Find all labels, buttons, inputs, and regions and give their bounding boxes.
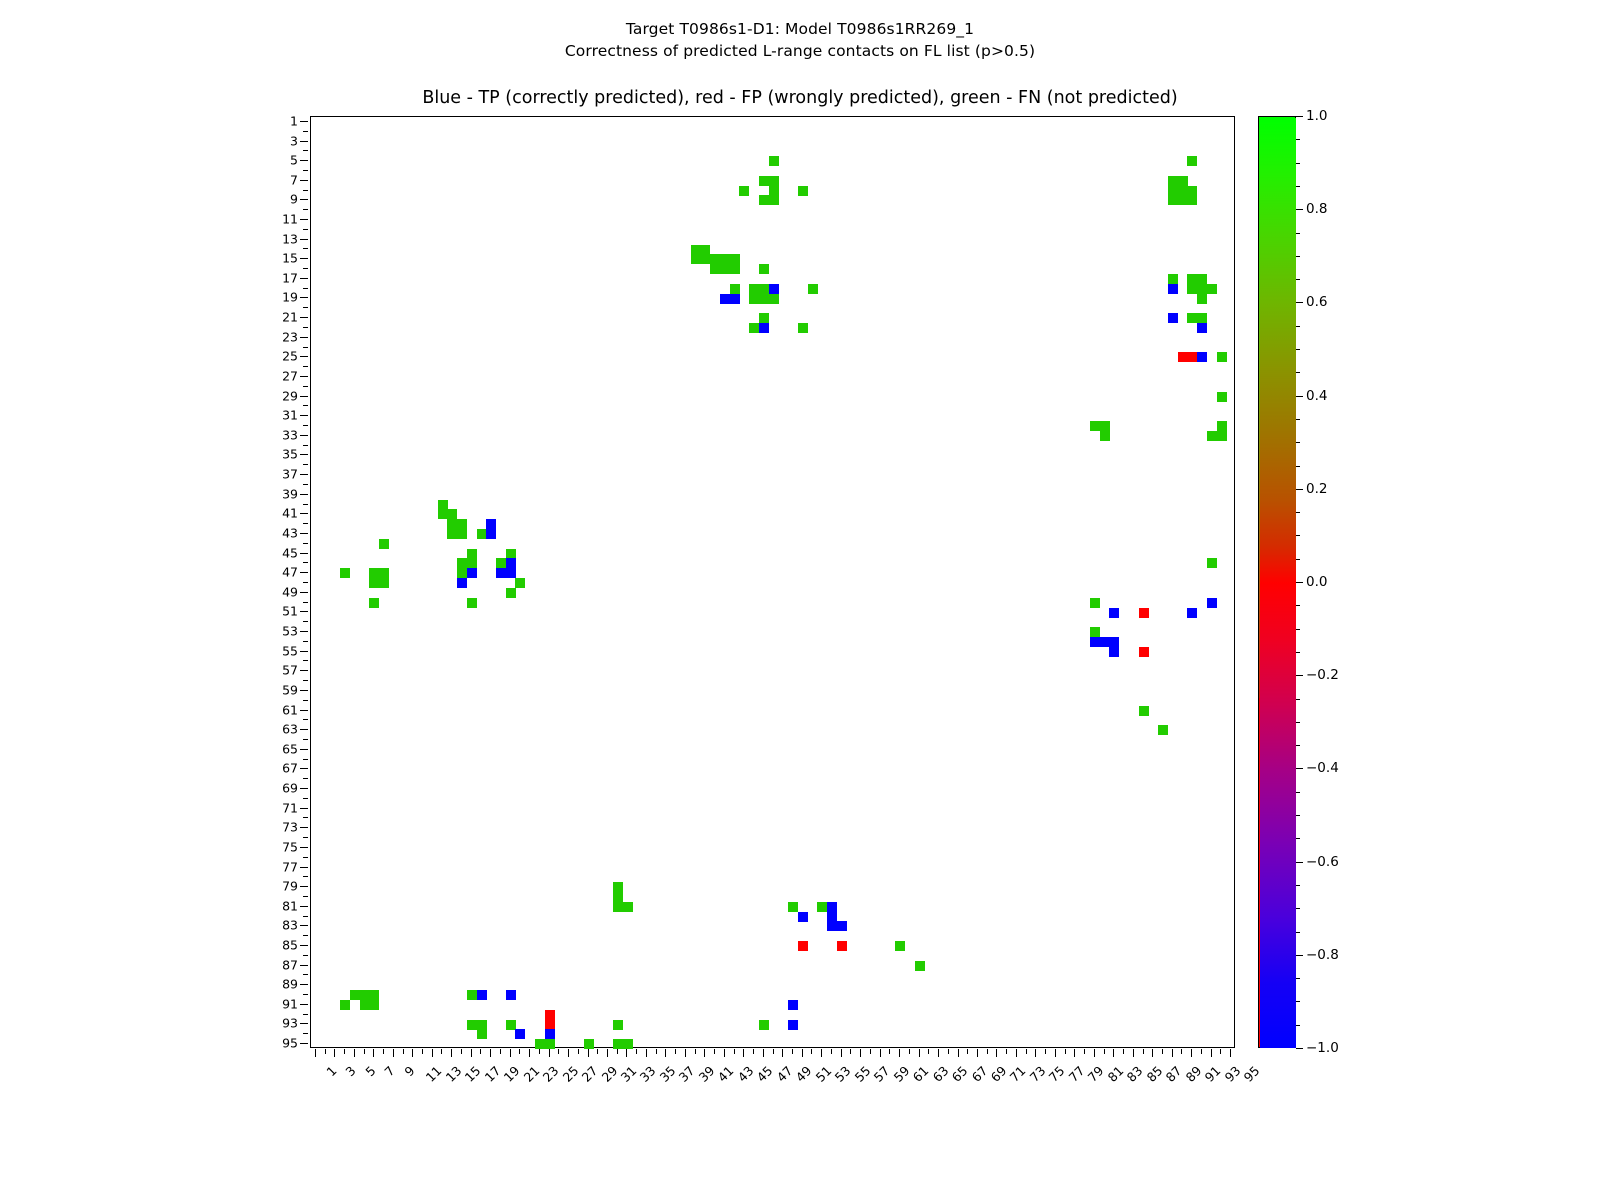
x-axis-tick [763,1049,764,1057]
x-axis-tick [977,1049,978,1057]
contact-cell [749,323,759,333]
contact-cell [1109,647,1119,657]
y-axis-tick-label: 85 [282,937,298,952]
contact-cell [486,519,496,529]
contact-cell [769,176,779,186]
x-axis-tick [782,1049,783,1057]
y-axis-tick-label: 63 [282,722,298,737]
contact-cell [457,529,467,539]
contact-cell [447,509,457,519]
colorbar-tick-label: 0.8 [1306,201,1327,217]
contact-cell [788,1020,798,1030]
contact-cell [486,529,496,539]
y-axis-tick [300,278,308,279]
y-axis-tick [300,651,308,652]
contact-cell [584,1039,594,1049]
x-axis-tick [870,1049,871,1054]
y-axis-tick-label: 21 [282,310,298,325]
contact-cell [730,264,740,274]
colorbar-minor-tick [1296,932,1300,933]
y-axis-tick-label: 49 [282,584,298,599]
colorbar-minor-tick [1296,442,1300,443]
x-axis-tick [1123,1049,1124,1054]
contact-cell [1109,637,1119,647]
colorbar-minor-tick [1296,326,1300,327]
contact-cell [769,156,779,166]
y-axis-tick [300,611,308,612]
y-axis-tick-label: 93 [282,1016,298,1031]
y-axis-tick-label: 23 [282,329,298,344]
y-axis-tick [303,248,308,249]
y-axis-tick [300,886,308,887]
y-axis-tick [303,837,308,838]
contact-cell [1100,431,1110,441]
y-axis-tick-label: 11 [282,212,298,227]
contact-cell [1207,284,1217,294]
y-axis-tick [300,631,308,632]
x-axis-tick [996,1049,997,1057]
y-axis-tick-label: 35 [282,447,298,462]
contact-cell [827,902,837,912]
contact-cell [720,254,730,264]
y-axis-tick [300,199,308,200]
x-axis-tick [958,1049,959,1057]
y-axis-tick-label: 29 [282,388,298,403]
y-axis-tick [303,641,308,642]
contact-cell [506,588,516,598]
contact-cell [506,558,516,568]
x-axis-tick [743,1049,744,1057]
contact-cell [700,254,710,264]
contact-map-cells [311,117,1234,1047]
y-axis-tick-label: 31 [282,408,298,423]
contact-cell [1187,156,1197,166]
y-axis-tick-label: 59 [282,682,298,697]
y-axis-tick [303,562,308,563]
colorbar-minor-tick [1296,372,1300,373]
x-axis-tick [860,1049,861,1057]
y-axis-tick-label: 33 [282,427,298,442]
y-axis-tick [300,356,308,357]
x-axis-tick [626,1049,627,1057]
y-axis-tick [303,1014,308,1015]
contact-cell [1197,294,1207,304]
contact-cell [1217,421,1227,431]
y-axis-tick-label: 57 [282,663,298,678]
x-axis-tick [364,1049,365,1054]
colorbar-minor-tick [1296,722,1300,723]
colorbar-minor-tick [1296,745,1300,746]
y-axis-tick-label: 79 [282,879,298,894]
colorbar-tick-label: −0.2 [1306,667,1339,683]
contact-cell [1100,637,1110,647]
x-axis-tick [1220,1049,1221,1054]
colorbar-minor-tick [1296,1001,1300,1002]
y-axis-tick [300,533,308,534]
y-axis-tick [303,778,308,779]
y-axis-tick-label: 87 [282,957,298,972]
contact-cell [623,1039,633,1049]
contact-cell [613,882,623,892]
contact-cell [769,186,779,196]
contact-cell [360,1000,370,1010]
contact-cell [1187,352,1197,362]
contact-cell [467,1020,477,1030]
y-axis-tick [303,994,308,995]
x-axis-tick [665,1049,666,1057]
x-axis-tick [1211,1049,1212,1057]
contact-cell [798,186,808,196]
contact-cell [515,1029,525,1039]
contact-cell [369,578,379,588]
x-axis-tick [1104,1049,1105,1054]
y-axis-tick-label: 83 [282,918,298,933]
contact-cell [369,990,379,1000]
y-axis-tick-label: 9 [290,192,298,207]
contact-cell [457,578,467,588]
contact-cell [1207,598,1217,608]
contact-cell [759,195,769,205]
x-axis-tick [403,1049,404,1054]
contact-cell [1187,313,1197,323]
contact-cell [613,892,623,902]
contact-cell [730,294,740,304]
contact-cell [467,990,477,1000]
x-axis-tick [880,1049,881,1057]
y-axis-tick [303,484,308,485]
contact-cell [837,941,847,951]
y-axis-tick [300,572,308,573]
contact-cell [1197,323,1207,333]
y-axis-tick [300,729,308,730]
x-axis-tick [1045,1049,1046,1054]
y-axis-tick-label: 77 [282,859,298,874]
y-axis-tick [300,121,308,122]
y-axis-tick [300,376,308,377]
colorbar-minor-tick [1296,279,1300,280]
contact-cell [1187,195,1197,205]
x-axis-tick [899,1049,900,1057]
y-axis-tick [300,337,308,338]
colorbar-minor-tick [1296,885,1300,886]
contact-cell [788,902,798,912]
colorbar-tick [1296,116,1303,117]
contact-cell [817,902,827,912]
x-axis-tick [1191,1049,1192,1057]
x-axis-tick [1162,1049,1163,1054]
x-axis-tick [334,1049,335,1057]
contact-cell [477,1020,487,1030]
contact-cell [759,1020,769,1030]
colorbar-tick [1296,862,1303,863]
chart-title-block: Target T0986s1-D1: Model T0986s1RR269_1 … [0,18,1600,62]
contact-cell [467,558,477,568]
chart-legend-subtitle: Blue - TP (correctly predicted), red - F… [0,88,1600,108]
x-axis-tick [919,1049,920,1057]
x-axis-tick [1152,1049,1153,1057]
y-axis-tick-label: 15 [282,251,298,266]
x-axis-tick [646,1049,647,1057]
x-axis-tick [354,1049,355,1057]
y-axis-tick [300,553,308,554]
y-axis-tick [300,454,308,455]
y-axis-tick-label: 53 [282,624,298,639]
contact-cell [360,990,370,1000]
contact-cell [788,1000,798,1010]
contact-cell [1197,313,1207,323]
y-axis-tick [303,700,308,701]
x-axis-tick [987,1049,988,1054]
y-axis-tick [300,415,308,416]
contact-cell [350,990,360,1000]
contact-cell [1168,195,1178,205]
y-axis-tick [303,131,308,132]
colorbar-tick [1296,1048,1303,1049]
colorbar-minor-tick [1296,605,1300,606]
x-axis-tick [656,1049,657,1054]
x-axis-tick [393,1049,394,1057]
contact-cell [496,558,506,568]
y-axis-tick [303,170,308,171]
contact-cell [613,1039,623,1049]
contact-cell [1168,313,1178,323]
y-axis-tick [303,523,308,524]
colorbar-minor-tick [1296,256,1300,257]
y-axis-tick [300,670,308,671]
y-axis-tick [300,1004,308,1005]
contact-cell [769,294,779,304]
y-axis-tick-label: 43 [282,525,298,540]
x-axis-tick [792,1049,793,1054]
colorbar-gradient [1260,118,1296,1048]
x-axis-tick [617,1049,618,1054]
y-axis-tick [303,916,308,917]
contact-cell [1178,186,1188,196]
y-axis-tick [303,896,308,897]
x-axis-tick [1074,1049,1075,1057]
x-axis-tick [695,1049,696,1054]
contact-cell [340,1000,350,1010]
contact-cell [477,529,487,539]
contact-cell [379,539,389,549]
y-axis-tick-label: 95 [282,1036,298,1051]
x-axis-tick [441,1049,442,1054]
x-axis-tick [938,1049,939,1057]
y-axis-tick [303,719,308,720]
y-axis-tick [300,474,308,475]
colorbar-minor-tick [1296,559,1300,560]
y-axis-tick-label: 3 [290,133,298,148]
contact-cell [1100,421,1110,431]
y-axis-tick [303,817,308,818]
y-axis-tick [300,180,308,181]
contact-cell [1139,706,1149,716]
contact-cell [1217,352,1227,362]
y-axis-tick [303,288,308,289]
colorbar-minor-tick [1296,535,1300,536]
x-axis-tick [451,1049,452,1057]
contact-cell [749,294,759,304]
x-axis-tick [841,1049,842,1057]
title-line-1: Target T0986s1-D1: Model T0986s1RR269_1 [0,18,1600,40]
y-axis-tick-label: 7 [290,172,298,187]
y-axis-tick [303,955,308,956]
x-axis-tick [471,1049,472,1057]
x-axis-tick [1230,1049,1231,1057]
x-axis-tick [461,1049,462,1054]
y-axis-tick-label: 1 [290,113,298,128]
contact-cell [1168,284,1178,294]
x-axis-tick [344,1049,345,1054]
contact-cell [837,921,847,931]
x-axis-tick [480,1049,481,1054]
x-axis-tick [948,1049,949,1054]
y-axis-tick-label: 75 [282,839,298,854]
x-axis-tick [1055,1049,1056,1057]
y-axis-tick [300,808,308,809]
contact-cell [759,323,769,333]
x-axis-tick [568,1049,569,1057]
x-axis-tick [1016,1049,1017,1057]
contact-cell [827,912,837,922]
contact-cell [545,1039,555,1049]
contact-cell [438,500,448,510]
x-axis-tick [315,1049,316,1057]
y-axis-tick [303,366,308,367]
contact-cell [1187,274,1197,284]
contact-cell [798,912,808,922]
contact-cell [379,578,389,588]
y-axis-tick [303,386,308,387]
x-axis-tick [734,1049,735,1054]
contact-cell [1158,725,1168,735]
x-axis-tick [1172,1049,1173,1057]
x-axis-tick-label: 9 [401,1063,417,1079]
y-axis-tick [300,219,308,220]
y-axis-tick [300,160,308,161]
contact-cell [613,902,623,912]
y-axis-tick [300,239,308,240]
y-axis-tick [303,405,308,406]
y-axis-tick [303,798,308,799]
contact-cell [798,941,808,951]
contact-cell [496,568,506,578]
y-axis-tick-label: 51 [282,604,298,619]
y-axis-tick [300,435,308,436]
contact-cell [506,549,516,559]
y-axis-tick-label: 41 [282,506,298,521]
y-axis-tick [303,621,308,622]
contact-map-plot-area [310,116,1235,1048]
x-axis-tick [802,1049,803,1057]
x-axis-tick [675,1049,676,1054]
y-axis-tick [303,425,308,426]
colorbar-minor-tick [1296,186,1300,187]
y-axis-tick [303,150,308,151]
colorbar-minor-tick [1296,419,1300,420]
contact-cell [340,568,350,578]
y-axis-tick-label: 19 [282,290,298,305]
contact-cell [447,519,457,529]
y-axis-tick-label: 71 [282,800,298,815]
contact-cell [369,1000,379,1010]
y-axis-tick [300,396,308,397]
contact-cell [720,264,730,274]
contact-cell [1178,352,1188,362]
contact-cell [720,294,730,304]
x-axis-tick-label: 27 [579,1063,601,1085]
contact-cell [1178,176,1188,186]
contact-cell [700,245,710,255]
y-axis-tick-label: 17 [282,270,298,285]
colorbar-tick-label: −0.6 [1306,854,1339,870]
y-axis-tick [300,690,308,691]
colorbar-tick [1296,582,1303,583]
contact-cell [1217,392,1227,402]
y-axis-tick [300,258,308,259]
y-axis-tick [300,297,308,298]
contact-cell [477,1029,487,1039]
x-axis-tick [373,1049,374,1057]
y-axis-tick [300,984,308,985]
x-axis-tick [490,1049,491,1057]
x-axis-tick-label: 1 [323,1063,339,1079]
x-axis-tick-label: 5 [362,1063,378,1079]
contact-cell [545,1020,555,1030]
colorbar-minor-tick [1296,1025,1300,1026]
x-axis-tick [811,1049,812,1054]
y-axis-tick [303,759,308,760]
contact-cell [1197,352,1207,362]
y-axis-tick [303,543,308,544]
contact-cell [457,519,467,529]
y-axis-tick-label: 37 [282,467,298,482]
x-axis-tick [597,1049,598,1054]
contact-cell [759,176,769,186]
x-axis-tick [909,1049,910,1054]
y-axis-tick [300,847,308,848]
y-axis-tick [300,867,308,868]
colorbar-tick [1296,489,1303,490]
x-axis-tick [558,1049,559,1054]
colorbar-tick-label: −0.8 [1306,947,1339,963]
x-axis-tick [539,1049,540,1054]
y-axis-tick [300,749,308,750]
x-axis-tick [714,1049,715,1054]
x-axis-tick [607,1049,608,1057]
x-axis-tick [821,1049,822,1057]
y-axis-tick [300,827,308,828]
x-axis-tick [500,1049,501,1054]
colorbar-minor-tick [1296,349,1300,350]
x-axis-tick [704,1049,705,1057]
y-axis-tick-label: 69 [282,781,298,796]
contact-cell [1187,186,1197,196]
y-axis-tick [303,602,308,603]
contact-cell [1207,431,1217,441]
y-axis-tick [303,876,308,877]
contact-cell [798,323,808,333]
colorbar-minor-tick [1296,815,1300,816]
y-axis-tick-label: 45 [282,545,298,560]
contact-cell [1168,176,1178,186]
contact-cell [545,1029,555,1039]
x-axis-tick [1006,1049,1007,1054]
colorbar-frame [1258,116,1296,1048]
x-axis-tick-label: 3 [343,1063,359,1079]
y-axis-tick [303,268,308,269]
colorbar-minor-tick [1296,978,1300,979]
